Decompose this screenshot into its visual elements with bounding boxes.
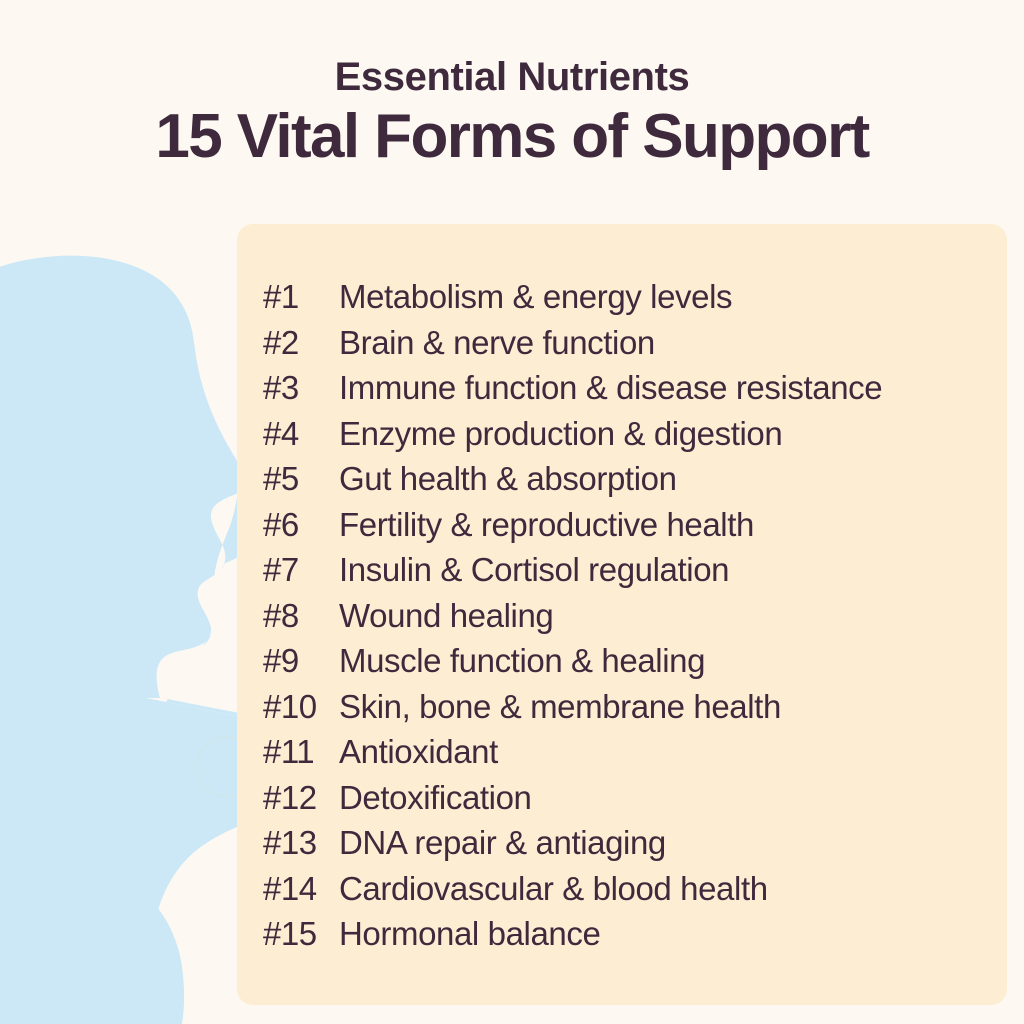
list-item-number: #5	[263, 460, 339, 498]
list-item: #12 Detoxification	[263, 779, 983, 825]
list-item-label: Cardiovascular & blood health	[339, 870, 768, 908]
list-item-label: Muscle function & healing	[339, 642, 705, 680]
list-item-number: #6	[263, 506, 339, 544]
list-item-label: Insulin & Cortisol regulation	[339, 551, 729, 589]
list-item-label: Detoxification	[339, 779, 532, 817]
list-item-number: #12	[263, 779, 339, 817]
list-item: #14 Cardiovascular & blood health	[263, 870, 983, 916]
list-item: #10 Skin, bone & membrane health	[263, 688, 983, 734]
list-item-number: #15	[263, 915, 339, 953]
list-item-label: Antioxidant	[339, 733, 498, 771]
list-item-label: Fertility & reproductive health	[339, 506, 754, 544]
page-title: 15 Vital Forms of Support	[0, 104, 1024, 171]
list-item-label: Metabolism & energy levels	[339, 278, 732, 316]
list-item: #1 Metabolism & energy levels	[263, 278, 983, 324]
list-item: #6 Fertility & reproductive health	[263, 506, 983, 552]
list-item-number: #7	[263, 551, 339, 589]
list-item-label: Gut health & absorption	[339, 460, 677, 498]
list-item: #2 Brain & nerve function	[263, 324, 983, 370]
list-item: #8 Wound healing	[263, 597, 983, 643]
list-item: #11 Antioxidant	[263, 733, 983, 779]
poster-eyebrow: Essential Nutrients	[0, 56, 1024, 98]
list-item-number: #8	[263, 597, 339, 635]
list-item-label: Wound healing	[339, 597, 553, 635]
list-item-number: #4	[263, 415, 339, 453]
list-item-number: #1	[263, 278, 339, 316]
list-item: #7 Insulin & Cortisol regulation	[263, 551, 983, 597]
list-item: #5 Gut health & absorption	[263, 460, 983, 506]
list-item-number: #2	[263, 324, 339, 362]
infographic-poster: Essential Nutrients 15 Vital Forms of Su…	[0, 0, 1024, 1024]
list-item: #4 Enzyme production & digestion	[263, 415, 983, 461]
list-item-label: Immune function & disease resistance	[339, 369, 882, 407]
list-item-number: #11	[263, 733, 339, 771]
poster-heading-block: Essential Nutrients 15 Vital Forms of Su…	[0, 56, 1024, 171]
list-item-label: Enzyme production & digestion	[339, 415, 782, 453]
list-item-number: #14	[263, 870, 339, 908]
list-item: #15 Hormonal balance	[263, 915, 983, 961]
list-item-label: DNA repair & antiaging	[339, 824, 666, 862]
list-item-label: Brain & nerve function	[339, 324, 655, 362]
list-item: #13 DNA repair & antiaging	[263, 824, 983, 870]
list-item-label: Skin, bone & membrane health	[339, 688, 781, 726]
list-item-number: #3	[263, 369, 339, 407]
nutrient-benefits-list: #1 Metabolism & energy levels #2 Brain &…	[263, 278, 983, 961]
list-item: #9 Muscle function & healing	[263, 642, 983, 688]
list-item-number: #13	[263, 824, 339, 862]
list-item-label: Hormonal balance	[339, 915, 600, 953]
list-item: #3 Immune function & disease resistance	[263, 369, 983, 415]
nutrient-benefits-card: #1 Metabolism & energy levels #2 Brain &…	[237, 224, 1007, 1005]
list-item-number: #10	[263, 688, 339, 726]
list-item-number: #9	[263, 642, 339, 680]
